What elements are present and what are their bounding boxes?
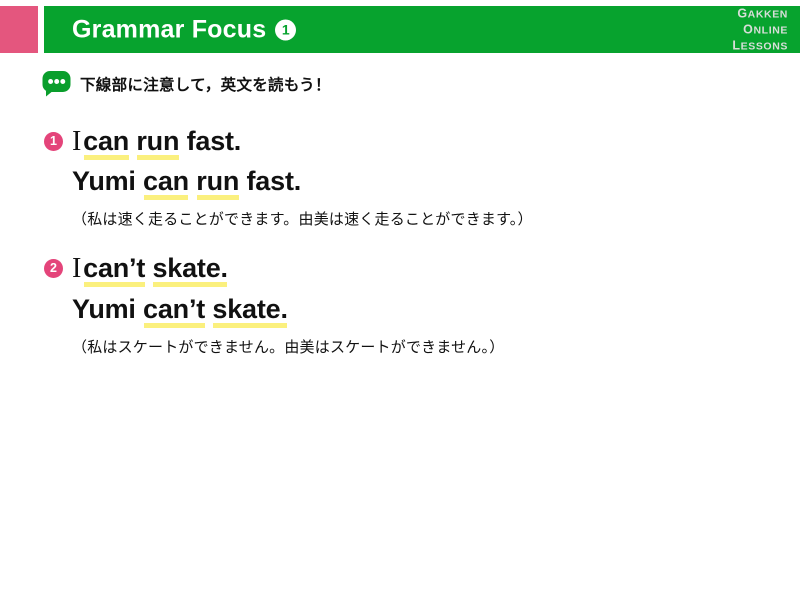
highlighted-word: skate.: [212, 292, 287, 326]
sentence-subject: Yumi: [72, 294, 136, 324]
highlighted-word: run: [136, 124, 179, 158]
example-sentence-second: Yumi can run fast.: [72, 164, 800, 198]
example-sentence-second: Yumi can’t skate.: [72, 292, 800, 326]
item-number-badge: 1: [44, 132, 63, 151]
sentence-word: fast.: [187, 126, 242, 156]
page-header: Grammar Focus 1 Gakken Online Lessons: [0, 6, 800, 53]
header-green-bar: Grammar Focus 1 Gakken Online Lessons: [44, 6, 800, 53]
translation-text: （私は速く走ることができます。由美は速く走ることができます。）: [72, 208, 800, 229]
example-sentence-first: Ican run fast.: [72, 124, 800, 159]
brand-logo-line3: Lessons: [732, 38, 788, 54]
page-title: Grammar Focus 1: [72, 15, 296, 44]
highlighted-word: can: [143, 164, 189, 198]
translation-text: （私はスケートができません。由美はスケートができません。）: [72, 336, 800, 357]
example-sentence-first: Ican’t skate.: [72, 251, 800, 286]
sentence-subject: I: [72, 126, 83, 157]
brand-logo-line1: Gakken: [732, 5, 788, 21]
item-sentences: Ican run fast. Yumi can run fast. （私は速く走…: [72, 124, 800, 229]
highlighted-word: skate.: [152, 251, 227, 285]
instruction-row: 下線部に注意して，英文を読もう！: [42, 70, 331, 97]
brand-logo-line2: Online: [732, 21, 788, 37]
speech-bubble-icon: [42, 70, 72, 97]
grammar-item: 1 Ican run fast. Yumi can run fast. （私は速…: [0, 124, 800, 229]
brand-logo: Gakken Online Lessons: [732, 5, 788, 54]
item-number-badge: 2: [44, 259, 63, 278]
grammar-item: 2 Ican’t skate. Yumi can’t skate. （私はスケー…: [0, 251, 800, 356]
highlighted-word: can’t: [83, 251, 145, 285]
highlighted-word: run: [196, 164, 239, 198]
sentence-subject: Yumi: [72, 166, 136, 196]
content-items: 1 Ican run fast. Yumi can run fast. （私は速…: [0, 124, 800, 379]
sentence-word: fast.: [247, 166, 302, 196]
highlighted-word: can’t: [143, 292, 205, 326]
page-title-number-badge: 1: [275, 19, 296, 40]
instruction-text: 下線部に注意して，英文を読もう！: [80, 73, 331, 95]
sentence-subject: I: [72, 253, 83, 284]
header-accent-block: [0, 6, 38, 53]
highlighted-word: can: [83, 124, 129, 158]
page-title-text: Grammar Focus: [72, 15, 266, 44]
item-sentences: Ican’t skate. Yumi can’t skate. （私はスケートが…: [72, 251, 800, 356]
